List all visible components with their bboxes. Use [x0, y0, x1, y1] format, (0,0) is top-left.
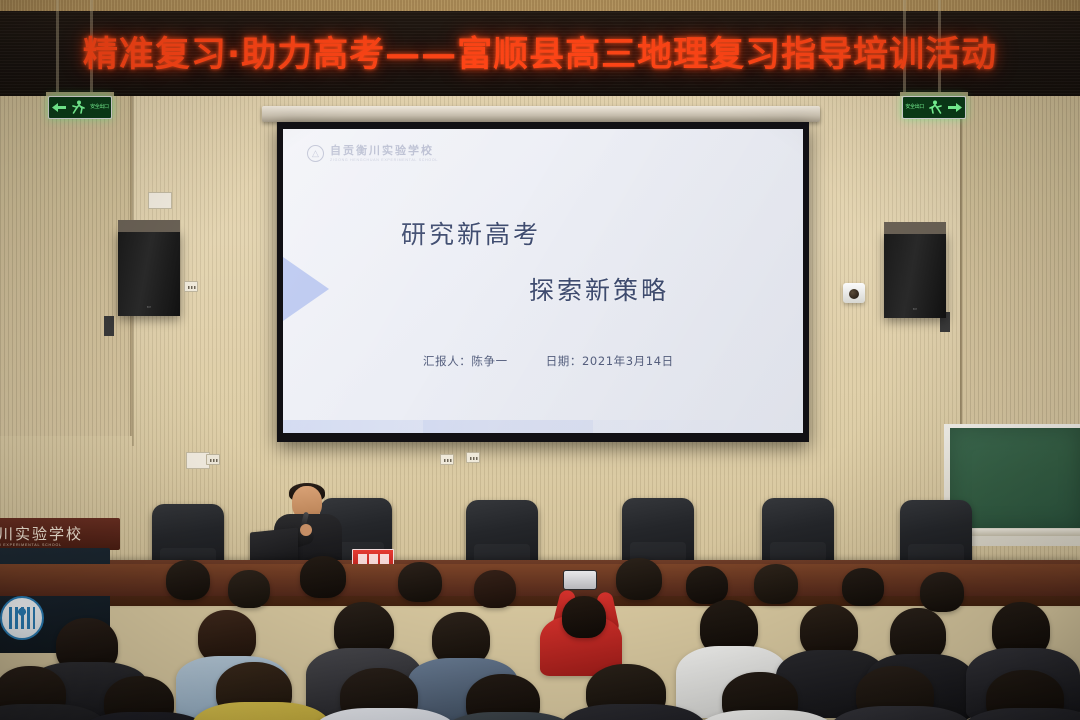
- audience-area: [0, 556, 1080, 720]
- exit-sign-right: 安全出口: [902, 96, 966, 119]
- wall-panel-right: [960, 96, 1080, 426]
- led-banner-text: 精准复习·助力高考——富顺县高三地理复习指导培训活动: [0, 26, 1080, 77]
- wall-panel-left: [0, 96, 132, 436]
- podium-sign: 川实验学校 N EXPERIMENTAL SCHOOL: [0, 518, 120, 550]
- audience-head: [842, 568, 884, 606]
- presentation-slide: △ 自贡衡川实验学校 ZIGONG HENGCHUAN EXPERIMENTAL…: [283, 129, 803, 433]
- slide-title-line-1: 研究新高考: [401, 215, 541, 251]
- led-banner: 精准复习·助力高考——富顺县高三地理复习指导培训活动: [0, 0, 1080, 96]
- audience-head: [686, 566, 728, 604]
- slide-chevron-decoration: [283, 225, 329, 353]
- podium-sign-cn: 川实验学校: [0, 527, 83, 542]
- audience-head: [228, 570, 270, 608]
- wall-outlet-left: [206, 454, 220, 465]
- desk-row-back: [0, 564, 1080, 596]
- speaker-left-brand: ▭: [147, 304, 152, 310]
- speaker-left-top: [118, 220, 180, 232]
- lecture-hall-photo: 精准复习·助力高考——富顺县高三地理复习指导培训活动 安全出口 安全出口 △: [0, 0, 1080, 720]
- presenter-hand: [300, 524, 312, 536]
- wall-speaker-left: ▭: [118, 230, 180, 316]
- slide-metadata: 汇报人：陈争一 日期：2021年3月14日: [423, 353, 674, 369]
- school-emblem-icon: △: [307, 145, 324, 162]
- audience-head: [166, 560, 210, 600]
- wall-speaker-right: ▭: [884, 232, 946, 318]
- school-logo-cn: 自贡衡川实验学校: [330, 145, 438, 156]
- projector-screen-housing: [262, 106, 820, 122]
- audience-head: [300, 556, 346, 598]
- slide-presenter: 汇报人：陈争一: [423, 353, 508, 369]
- audience-head: [616, 558, 662, 600]
- photographer-head: [562, 596, 606, 638]
- camera-lens-icon: [849, 289, 859, 299]
- running-person-icon-right: [929, 100, 942, 116]
- speaker-right-top: [884, 222, 946, 234]
- slide-date: 日期：2021年3月14日: [546, 353, 674, 369]
- audience-head: [754, 564, 798, 604]
- right-arrow-icon: [947, 101, 963, 114]
- ceiling-dome-camera: [843, 283, 865, 303]
- school-logo-text-group: 自贡衡川实验学校 ZIGONG HENGCHUAN EXPERIMENTAL S…: [330, 145, 438, 163]
- wall-seam-right: [960, 96, 962, 446]
- speaker-left-bracket: [104, 316, 114, 336]
- exit-sign-right-label: 安全出口: [905, 105, 923, 110]
- school-logo: △ 自贡衡川实验学校 ZIGONG HENGCHUAN EXPERIMENTAL…: [307, 145, 438, 163]
- running-person-icon: [72, 100, 85, 116]
- smartphone-camera: [563, 570, 597, 590]
- wall-outlet-mid-2: [466, 452, 480, 463]
- slide-bottom-accent: [283, 420, 803, 433]
- led-top-trim: [0, 0, 1080, 11]
- wall-outlet-mid: [440, 454, 454, 465]
- audience-head: [920, 572, 964, 612]
- exit-sign-left-label: 安全出口: [90, 105, 108, 110]
- slide-title-line-2: 探索新策略: [529, 271, 669, 307]
- left-arrow-icon: [51, 101, 67, 114]
- wall-plate-upper-left: [148, 192, 172, 209]
- projection-screen: △ 自贡衡川实验学校 ZIGONG HENGCHUAN EXPERIMENTAL…: [277, 122, 809, 442]
- audience-head: [474, 570, 516, 608]
- school-logo-en: ZIGONG HENGCHUAN EXPERIMENTAL SCHOOL: [330, 159, 438, 163]
- podium-sign-en: N EXPERIMENTAL SCHOOL: [0, 543, 62, 547]
- wall-outlet-upper: [184, 281, 198, 292]
- audience-head: [398, 562, 442, 602]
- speaker-right-brand: ▭: [913, 306, 918, 312]
- exit-sign-left: 安全出口: [48, 96, 112, 119]
